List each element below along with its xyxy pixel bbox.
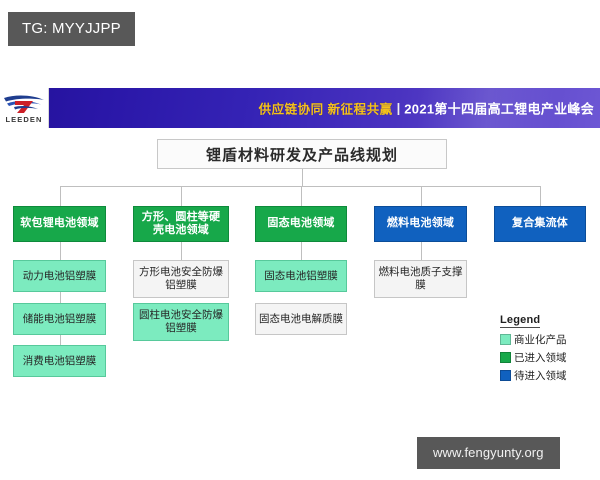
leaf-node-3-0-label: 燃料电池质子支撑膜	[378, 266, 463, 292]
connector-leaf-0-0	[60, 242, 61, 260]
head-node-1[interactable]: 方形、圆柱等硬壳电池领域	[133, 206, 229, 242]
connector-leaf-0-2	[60, 335, 61, 345]
page-title: 锂盾材料研发及产品线规划	[157, 139, 447, 169]
tg-watermark-tag: TG: MYYJJPP	[8, 12, 135, 46]
leaf-node-0-1-label: 储能电池铝塑膜	[23, 313, 97, 326]
connector-drop-0	[60, 186, 61, 206]
head-node-2-label: 固态电池领域	[267, 217, 334, 230]
leaf-node-0-2-label: 消费电池铝塑膜	[23, 355, 97, 368]
leaf-node-0-0-label: 动力电池铝塑膜	[23, 270, 97, 283]
head-node-2[interactable]: 固态电池领域	[255, 206, 347, 242]
head-node-4-label: 复合集流体	[512, 217, 568, 230]
connector-drop-3	[421, 186, 422, 206]
leaf-node-1-1-label: 圆柱电池安全防爆铝塑膜	[137, 309, 225, 335]
legend: Legend 商业化产品已进入领域待进入领域	[500, 310, 580, 386]
leaf-node-3-0[interactable]: 燃料电池质子支撑膜	[374, 260, 467, 298]
legend-label-1: 已进入领域	[514, 350, 567, 365]
head-node-0-label: 软包锂电池领域	[20, 217, 98, 230]
legend-label-2: 待进入领域	[514, 368, 567, 383]
banner-conference-name: 2021第十四届高工锂电产业峰会	[404, 99, 594, 118]
leaf-node-2-0-label: 固态电池铝塑膜	[264, 270, 338, 283]
site-watermark: www.fengyunty.org	[417, 437, 560, 469]
page-title-text: 锂盾材料研发及产品线规划	[206, 144, 398, 165]
leaf-node-1-1[interactable]: 圆柱电池安全防爆铝塑膜	[133, 303, 229, 341]
banner-divider: |	[397, 101, 401, 116]
banner-text-group: 供应链协同 新征程共赢 | 2021第十四届高工锂电产业峰会	[259, 99, 594, 118]
connector-bus	[60, 186, 541, 187]
leeden-logo-icon	[2, 93, 46, 115]
head-node-3[interactable]: 燃料电池领域	[374, 206, 467, 242]
legend-item-0: 商业化产品	[500, 332, 580, 347]
connector-leaf-1-0	[181, 242, 182, 260]
head-node-3-label: 燃料电池领域	[387, 217, 454, 230]
legend-item-1: 已进入领域	[500, 350, 580, 365]
connector-title-stem	[302, 169, 303, 186]
legend-swatch-0	[500, 334, 511, 345]
legend-title: Legend	[500, 314, 540, 328]
leaf-node-0-2[interactable]: 消费电池铝塑膜	[13, 345, 106, 377]
legend-label-0: 商业化产品	[514, 332, 567, 347]
legend-swatch-2	[500, 370, 511, 381]
leaf-node-0-0[interactable]: 动力电池铝塑膜	[13, 260, 106, 292]
leeden-wordmark: LEEDEN	[5, 116, 42, 124]
leaf-node-1-0-label: 方形电池安全防爆铝塑膜	[137, 266, 225, 292]
leaf-node-2-1[interactable]: 固态电池电解质膜	[255, 303, 347, 335]
head-node-0[interactable]: 软包锂电池领域	[13, 206, 106, 242]
leaf-node-0-1[interactable]: 储能电池铝塑膜	[13, 303, 106, 335]
leaf-node-2-1-label: 固态电池电解质膜	[259, 313, 343, 326]
connector-leaf-3-0	[421, 242, 422, 260]
banner-slogan: 供应链协同 新征程共赢	[259, 99, 393, 118]
conference-banner: LEEDEN 供应链协同 新征程共赢 | 2021第十四届高工锂电产业峰会	[0, 88, 600, 128]
connector-leaf-2-0	[301, 242, 302, 260]
connector-drop-2	[301, 186, 302, 206]
connector-drop-1	[181, 186, 182, 206]
legend-swatch-1	[500, 352, 511, 363]
leaf-node-1-0[interactable]: 方形电池安全防爆铝塑膜	[133, 260, 229, 298]
legend-item-2: 待进入领域	[500, 368, 580, 383]
legend-rows: 商业化产品已进入领域待进入领域	[500, 332, 580, 383]
leeden-logo: LEEDEN	[0, 88, 49, 128]
connector-drop-4	[540, 186, 541, 206]
head-node-1-label: 方形、圆柱等硬壳电池领域	[137, 211, 225, 238]
head-node-4[interactable]: 复合集流体	[494, 206, 586, 242]
connector-leaf-0-1	[60, 292, 61, 303]
leaf-node-2-0[interactable]: 固态电池铝塑膜	[255, 260, 347, 292]
